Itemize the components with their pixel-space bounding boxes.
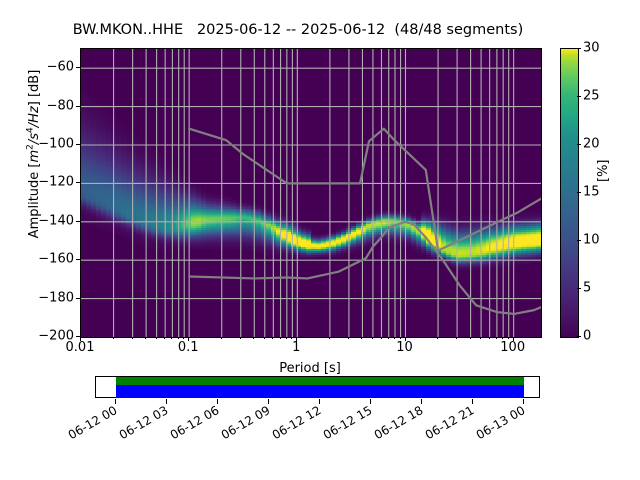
- x-tick-mark-minor: [388, 337, 389, 339]
- y-tick-mark: [76, 298, 80, 299]
- x-tick-mark-minor: [329, 337, 330, 339]
- coverage-box: [95, 376, 540, 398]
- x-tick-mark-minor: [480, 337, 481, 339]
- y-tick-mark: [76, 67, 80, 68]
- x-tick-mark-minor: [145, 337, 146, 339]
- x-tick-mark-minor: [372, 337, 373, 339]
- x-axis-label: Period [s]: [80, 361, 540, 376]
- timeline-tick-mark: [268, 399, 269, 404]
- x-tick-mark-minor: [381, 337, 382, 339]
- x-tick-mark-minor: [489, 337, 490, 339]
- timeline-tick-label: 06-12 21: [423, 404, 476, 441]
- x-tick-label: 10: [396, 341, 413, 354]
- plot-title: BW.MKON..HHE 2025-06-12 -- 2025-06-12 (4…: [0, 22, 596, 38]
- x-tick-label: 1: [292, 341, 300, 354]
- y-tick-mark: [76, 106, 80, 107]
- x-tick-mark-minor: [178, 337, 179, 339]
- x-tick-mark-minor: [470, 337, 471, 339]
- y-axis-label-text: Amplitude [m2/s4/Hz] [dB]: [27, 70, 42, 239]
- colorbar-label: [%]: [596, 142, 612, 182]
- x-tick-mark-minor: [132, 337, 133, 339]
- colorbar-tick-label: 25: [583, 90, 600, 103]
- colorbar-tick-label: 15: [583, 186, 600, 199]
- x-tick-mark-minor: [183, 337, 184, 339]
- x-tick-mark-minor: [280, 337, 281, 339]
- x-tick-mark-minor: [394, 337, 395, 339]
- timeline-tick-label: 06-12 00: [66, 404, 119, 441]
- colorbar-tick-mark: [577, 96, 581, 97]
- timeline-tick-mark: [421, 399, 422, 404]
- colorbar-tick-label: 0: [583, 330, 591, 343]
- timeline-tick-mark: [472, 399, 473, 404]
- x-tick-mark-minor: [272, 337, 273, 339]
- figure-canvas: BW.MKON..HHE 2025-06-12 -- 2025-06-12 (4…: [0, 0, 640, 480]
- x-tick-mark-minor: [400, 337, 401, 339]
- x-tick-label: 0.1: [178, 341, 199, 354]
- x-tick-mark-minor: [496, 337, 497, 339]
- x-tick-mark-minor: [240, 337, 241, 339]
- timeline-tick-label: 06-12 15: [321, 404, 374, 441]
- timeline-tick-label: 06-12 18: [372, 404, 425, 441]
- x-tick-mark-minor: [361, 337, 362, 339]
- x-tick-mark-minor: [286, 337, 287, 339]
- timeline-tick-mark: [217, 399, 218, 404]
- timeline-tick-label: 06-12 09: [219, 404, 272, 441]
- coverage-psd-bar: [116, 377, 524, 385]
- x-tick-mark-minor: [221, 337, 222, 339]
- timeline-tick-mark: [370, 399, 371, 404]
- x-tick-mark-minor: [156, 337, 157, 339]
- colorbar-tick-mark: [577, 144, 581, 145]
- y-tick-label: −180: [2, 291, 74, 304]
- colorbar-tick-label: 30: [583, 42, 600, 55]
- x-tick-mark-minor: [253, 337, 254, 339]
- ppsd-axes: [80, 48, 542, 338]
- timeline-tick-label: 06-12 12: [270, 404, 323, 441]
- colorbar-tick-mark: [577, 288, 581, 289]
- colorbar-tick-mark: [577, 336, 581, 337]
- x-tick-mark-minor: [171, 337, 172, 339]
- x-tick-mark-minor: [264, 337, 265, 339]
- y-tick-mark: [76, 182, 80, 183]
- colorbar-tick-label: 5: [583, 282, 591, 295]
- x-tick-mark-minor: [456, 337, 457, 339]
- timeline-tick-mark: [166, 399, 167, 404]
- y-tick-mark: [76, 259, 80, 260]
- colorbar-tick-mark: [577, 192, 581, 193]
- x-tick-mark-minor: [348, 337, 349, 339]
- x-tick-mark-minor: [164, 337, 165, 339]
- ppsd-plot-svg: [81, 49, 541, 337]
- colorbar-tick-mark: [577, 48, 581, 49]
- x-tick-label: 100: [500, 341, 525, 354]
- y-axis-label: Amplitude [m2/s4/Hz] [dB]: [26, 24, 46, 284]
- y-tick-mark: [76, 221, 80, 222]
- timeline-tick-mark: [115, 399, 116, 404]
- timeline-tick-mark: [319, 399, 320, 404]
- x-tick-mark-minor: [291, 337, 292, 339]
- y-tick-label: −200: [2, 330, 74, 343]
- x-tick-mark-minor: [437, 337, 438, 339]
- timeline-tick-mark: [523, 399, 524, 404]
- x-tick-mark-minor: [502, 337, 503, 339]
- timeline-tick-label: 06-12 03: [117, 404, 170, 441]
- timeline-tick-label: 06-13 00: [474, 404, 527, 441]
- colorbar: [560, 48, 579, 338]
- x-tick-label: 0.01: [66, 341, 95, 354]
- colorbar-tick-label: 10: [583, 234, 600, 247]
- ppsd-histogram-layer: [81, 89, 541, 270]
- colorbar-tick-mark: [577, 240, 581, 241]
- coverage-data-bar: [116, 385, 524, 398]
- x-tick-mark-minor: [113, 337, 114, 339]
- x-tick-mark-minor: [508, 337, 509, 339]
- timeline-tick-label: 06-12 06: [168, 404, 221, 441]
- y-tick-mark: [76, 144, 80, 145]
